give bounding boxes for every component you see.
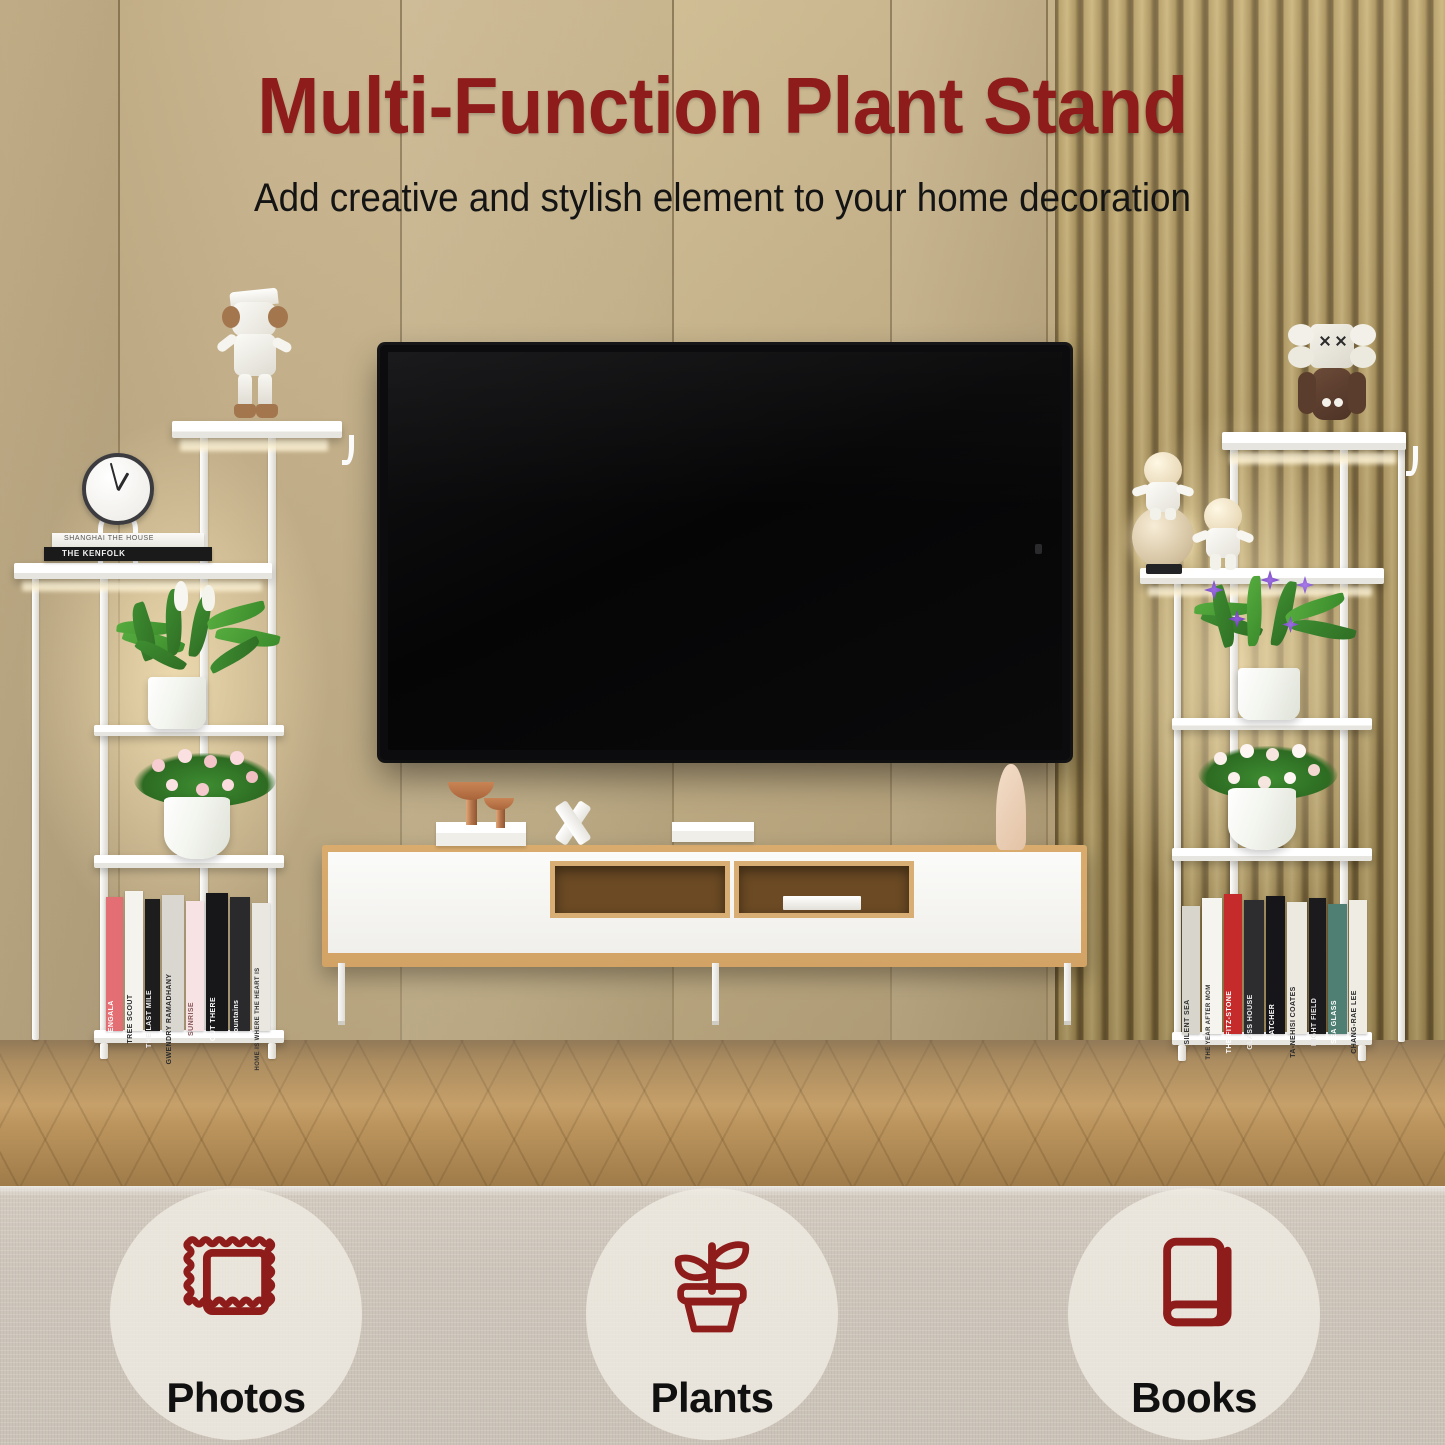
book-spine: THE YEAR AFTER MOM bbox=[1202, 898, 1222, 1034]
tv-screen-highlight bbox=[388, 352, 1062, 511]
feature-label: Photos bbox=[110, 1374, 362, 1422]
console-book-stack-left bbox=[436, 822, 526, 846]
book-spine: THE LAST MILE bbox=[145, 899, 160, 1031]
moon-lamp-base bbox=[1146, 564, 1182, 574]
stand-top-shelf bbox=[172, 421, 342, 438]
book-row-right: SILENT SEA THE YEAR AFTER MOM THE FITZ-S… bbox=[1182, 892, 1368, 1034]
book-icon bbox=[1138, 1226, 1250, 1343]
console-leg bbox=[712, 963, 719, 1025]
wall-mounted-tv bbox=[380, 345, 1070, 760]
book-spine: HOME IS WHERE THE HEART IS bbox=[252, 903, 270, 1031]
console-leg bbox=[1064, 963, 1071, 1025]
console-leg bbox=[338, 963, 345, 1025]
book-title: SILENT SEA bbox=[1184, 999, 1191, 1044]
feature-row: Photos Plants bbox=[0, 1186, 1445, 1445]
book-title: BENGALA bbox=[108, 1000, 115, 1037]
console-cubby-right bbox=[734, 861, 914, 918]
top-shelf-glow bbox=[180, 439, 328, 451]
book-spine: CATCHER bbox=[1266, 896, 1285, 1034]
herringbone-floor bbox=[0, 1040, 1445, 1195]
stand-foot bbox=[268, 1043, 276, 1059]
book-spine: SUNRISE bbox=[186, 901, 204, 1031]
stand-upright bbox=[1398, 434, 1405, 1042]
plant-stand-left: SHANGHAI THE HOUSE THE KENFOLK bbox=[14, 395, 304, 1055]
book-title: SEA GLASS bbox=[1331, 1000, 1338, 1044]
feature-label: Plants bbox=[586, 1374, 838, 1422]
stand-upright bbox=[1174, 572, 1181, 1042]
book-title: HOME IS WHERE THE HEART IS bbox=[255, 967, 261, 1070]
book-title: TREE SCOUT bbox=[127, 994, 134, 1043]
shelf-book-title: SHANGHAI THE HOUSE bbox=[64, 535, 154, 542]
book-title: GLASS HOUSE bbox=[1247, 994, 1254, 1049]
book-title: OUT THERE bbox=[210, 997, 217, 1041]
book-row-left: BENGALA TREE SCOUT THE LAST MILE GWENDRY… bbox=[104, 889, 280, 1031]
page-subtitle: Add creative and stylish element to your… bbox=[58, 176, 1387, 221]
feature-plants[interactable]: Plants bbox=[586, 1188, 838, 1440]
white-cylinder-pot-left bbox=[148, 677, 206, 729]
stand-foot bbox=[1358, 1045, 1366, 1061]
book-title: CATCHER bbox=[1269, 1004, 1276, 1041]
book-spine: OUT THERE bbox=[206, 893, 228, 1031]
product-marketing-image: SHANGHAI THE HOUSE THE KENFOLK bbox=[0, 0, 1445, 1445]
console-cubby-left bbox=[550, 861, 730, 918]
book-spine: GWENDRY RAMADHANY bbox=[162, 895, 184, 1031]
stand-foot bbox=[1178, 1045, 1186, 1061]
book-spine: THE FITZ-STONE bbox=[1224, 894, 1242, 1034]
book-title: GWENDRY RAMADHANY bbox=[166, 974, 173, 1065]
clock-face bbox=[82, 453, 154, 525]
book-title: NIGHT FIELD bbox=[1311, 998, 1318, 1046]
stand-hook bbox=[1406, 446, 1418, 476]
cubby-book-stack bbox=[783, 896, 861, 910]
stand-upright bbox=[32, 567, 39, 1040]
book-title: THE FITZ-STONE bbox=[1226, 991, 1233, 1054]
book-spine: Mountains bbox=[230, 897, 250, 1031]
page-title: Multi-Function Plant Stand bbox=[51, 60, 1395, 152]
book-title: THE LAST MILE bbox=[146, 990, 153, 1048]
white-round-pot-left bbox=[164, 797, 230, 859]
book-title: CHANG-RAE LEE bbox=[1351, 990, 1358, 1054]
book-title: TA-NEHISI COATES bbox=[1290, 986, 1297, 1057]
book-spine: SILENT SEA bbox=[1182, 906, 1200, 1034]
book-title: SUNRISE bbox=[188, 1002, 195, 1036]
toy-figurine-left bbox=[210, 290, 300, 422]
stand-top-shelf bbox=[1222, 432, 1406, 450]
top-shelf-glow bbox=[1230, 452, 1396, 464]
book-spine: TA-NEHISI COATES bbox=[1287, 902, 1307, 1034]
moon-globe-lamp bbox=[1132, 506, 1194, 568]
stand-book-shelf bbox=[14, 563, 272, 579]
console-book-stack-right bbox=[672, 822, 754, 842]
book-spine: CHANG-RAE LEE bbox=[1349, 900, 1367, 1034]
tv-indicator bbox=[1035, 544, 1042, 554]
feature-photos[interactable]: Photos bbox=[110, 1188, 362, 1440]
shelf-book-lower: THE KENFOLK bbox=[44, 547, 212, 561]
book-spine: NIGHT FIELD bbox=[1309, 898, 1326, 1034]
tv-screen bbox=[388, 352, 1062, 750]
plant-stand-right: SILENT SEA THE YEAR AFTER MOM THE FITZ-S… bbox=[1152, 400, 1442, 1055]
shelf-book-upper: SHANGHAI THE HOUSE bbox=[52, 533, 204, 547]
console-doors bbox=[328, 852, 1081, 953]
photo-frame-stamp-icon bbox=[180, 1226, 292, 1343]
white-round-pot-right bbox=[1228, 788, 1296, 850]
stand-lower-shelf bbox=[1172, 848, 1372, 861]
book-spine: BENGALA bbox=[106, 897, 123, 1031]
book-spine: TREE SCOUT bbox=[125, 891, 143, 1031]
feature-books[interactable]: Books bbox=[1068, 1188, 1320, 1440]
feature-label: Books bbox=[1068, 1374, 1320, 1422]
book-title: THE YEAR AFTER MOM bbox=[1206, 984, 1212, 1059]
shelf-book-title: THE KENFOLK bbox=[62, 549, 126, 558]
stand-foot bbox=[100, 1043, 108, 1059]
tv-media-console bbox=[322, 845, 1087, 967]
kaws-figurine-right bbox=[1288, 318, 1376, 434]
console-frame bbox=[322, 845, 1087, 967]
book-spine: SEA GLASS bbox=[1328, 904, 1347, 1034]
book-spine: GLASS HOUSE bbox=[1244, 900, 1264, 1034]
clock-minute-hand bbox=[110, 463, 119, 491]
potted-plant-icon bbox=[656, 1226, 768, 1343]
book-title: Mountains bbox=[233, 1000, 240, 1039]
white-cylinder-pot-right bbox=[1238, 668, 1300, 720]
copper-stand-small bbox=[496, 808, 505, 828]
astronaut-figurine-2 bbox=[1188, 498, 1258, 576]
